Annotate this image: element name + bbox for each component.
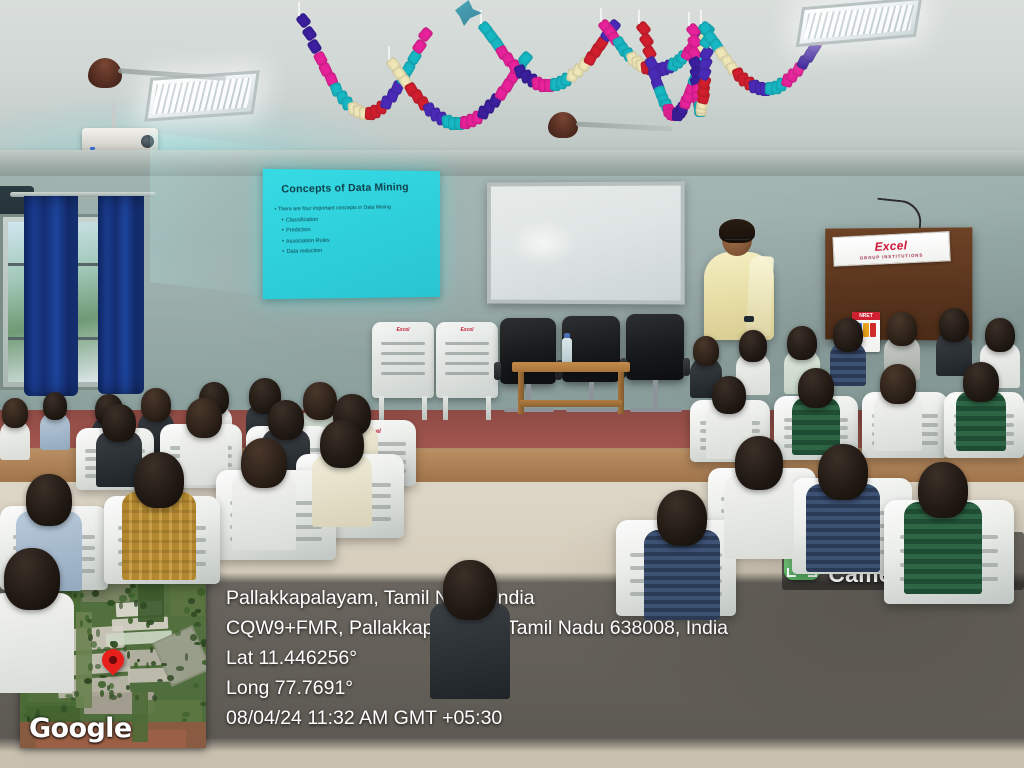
map-tree-speckle xyxy=(96,629,99,637)
chair-base xyxy=(630,408,682,412)
audience-person-head xyxy=(798,368,834,408)
map-tree-speckle xyxy=(61,705,67,713)
map-tree-speckle xyxy=(97,647,101,651)
stage-plastic-chair-2: Excel xyxy=(436,322,498,398)
map-tree-speckle xyxy=(128,617,133,624)
audience-person-head xyxy=(739,330,767,362)
audience-person-head xyxy=(186,398,222,438)
map-tree-speckle xyxy=(74,691,78,698)
curtain-right xyxy=(98,196,144,394)
audience-person-head xyxy=(4,548,60,610)
audience-person-head xyxy=(985,318,1015,352)
map-tree-speckle xyxy=(87,619,92,623)
map-tree-speckle xyxy=(201,639,206,647)
map-tree-speckle xyxy=(130,587,133,590)
map-tree-speckle xyxy=(107,600,114,606)
ceiling-fan-mount-middle xyxy=(548,112,578,138)
gps-timestamp-label: 08/04/24 11:32 AM GMT +05:30 xyxy=(226,703,1006,733)
map-tree-speckle xyxy=(95,664,101,669)
ceiling-fan-mount-left xyxy=(88,58,122,88)
map-tree-speckle xyxy=(80,620,83,627)
audience-person-head xyxy=(963,362,999,402)
map-tree-speckle xyxy=(88,663,93,671)
audience-person-head xyxy=(657,490,707,546)
audience-person-head xyxy=(26,474,72,526)
map-tree-speckle xyxy=(157,679,163,682)
audience-person-head xyxy=(693,336,719,366)
curtain-left xyxy=(24,196,78,396)
podium-banner: Excel GROUP INSTITUTIONS xyxy=(832,231,950,267)
projector-lens-icon xyxy=(141,135,154,148)
chair-brand-label: Excel xyxy=(396,327,409,333)
map-tree-speckle xyxy=(134,662,138,669)
stage-plastic-chair-1: Excel xyxy=(372,322,434,398)
audience-person-head xyxy=(102,404,136,442)
garland-hanger xyxy=(600,8,602,22)
map-tree-speckle xyxy=(188,598,195,603)
map-tree-speckle xyxy=(107,685,110,691)
garland-hanger xyxy=(700,10,702,24)
chair-post xyxy=(653,380,658,410)
garland-hanger xyxy=(388,46,390,60)
audience-person-head xyxy=(43,392,67,420)
audience-person-head xyxy=(241,438,287,488)
gps-address-label: CQW9+FMR, Pallakkapalayam, Tamil Nadu 63… xyxy=(226,613,1006,643)
gps-longitude-label: Long 77.7691° xyxy=(226,673,1006,703)
map-tree-speckle xyxy=(194,622,200,628)
map-tree-speckle xyxy=(65,694,73,698)
map-tree-speckle xyxy=(128,593,135,598)
audience-person-head xyxy=(443,560,497,620)
map-tree-speckle xyxy=(194,642,201,645)
map-tree-speckle xyxy=(98,681,106,687)
audience-person-head xyxy=(2,398,28,428)
map-tree-speckle xyxy=(200,702,206,706)
audience-person-head xyxy=(141,388,171,422)
map-tree-speckle xyxy=(92,590,100,597)
google-watermark: Google xyxy=(29,713,132,744)
garland-hanger xyxy=(688,12,690,26)
audience-person-head xyxy=(134,452,184,508)
map-tree-speckle xyxy=(84,678,92,684)
presenter-dupatta xyxy=(746,255,774,336)
audience-person-head xyxy=(918,462,968,518)
garland-hanger xyxy=(298,2,300,16)
stage-table xyxy=(512,362,630,414)
gps-latitude-label: Lat 11.446256° xyxy=(226,643,1006,673)
audience-person-head xyxy=(712,376,746,414)
nret-sign-label: NRET xyxy=(852,312,880,320)
presenter-wristwatch xyxy=(744,316,754,322)
map-tree-speckle xyxy=(202,660,206,665)
audience-person-head xyxy=(939,308,969,342)
garland-hanger xyxy=(638,10,640,24)
audience-person-head xyxy=(818,444,868,500)
ceiling-beam xyxy=(0,150,1024,176)
photo-canvas: Concepts of Data Mining There are four i… xyxy=(0,0,1024,768)
podium-brand-label: Excel xyxy=(874,239,907,253)
map-tree-speckle xyxy=(150,647,153,653)
audience-person-head xyxy=(320,420,364,468)
map-tree-speckle xyxy=(87,628,91,635)
map-tree-speckle xyxy=(193,683,199,688)
map-tree-speckle xyxy=(184,607,190,614)
map-tree-speckle xyxy=(151,661,156,666)
whiteboard xyxy=(487,181,685,304)
map-feature xyxy=(132,692,148,742)
slide-bullet-list: There are four important concepts in Dat… xyxy=(275,203,435,258)
audience-person-head xyxy=(880,364,916,404)
map-tree-speckle xyxy=(119,595,127,602)
map-tree-speckle xyxy=(146,621,150,627)
audience-person-head xyxy=(303,382,337,420)
map-tree-speckle xyxy=(195,609,201,613)
map-tree-speckle xyxy=(161,663,166,666)
map-tree-speckle xyxy=(109,695,116,700)
map-tree-speckle xyxy=(175,630,181,636)
audience-person-head xyxy=(787,326,817,360)
presenter-speaker xyxy=(700,222,778,340)
stage-office-chair-3 xyxy=(626,314,684,380)
map-tree-speckle xyxy=(36,709,40,713)
map-tree-speckle xyxy=(109,683,113,689)
projection-screen: Concepts of Data Mining There are four i… xyxy=(263,169,440,299)
slide-title: Concepts of Data Mining xyxy=(281,181,430,196)
audience-person-head xyxy=(268,400,304,440)
audience-person-head xyxy=(833,318,863,352)
presenter-glasses-icon xyxy=(725,235,749,240)
audience-person-head xyxy=(735,436,783,490)
map-tree-speckle xyxy=(88,634,93,641)
map-tree-speckle xyxy=(176,666,184,670)
map-tree-speckle xyxy=(126,685,130,689)
audience-person-head xyxy=(887,312,917,346)
chair-brand-label: Excel xyxy=(460,327,473,333)
podium-subtitle-label: GROUP INSTITUTIONS xyxy=(860,252,924,260)
map-tree-speckle xyxy=(197,588,205,596)
garland-hanger xyxy=(480,10,482,24)
map-tree-speckle xyxy=(182,718,187,723)
whiteboard-glare xyxy=(510,220,578,266)
